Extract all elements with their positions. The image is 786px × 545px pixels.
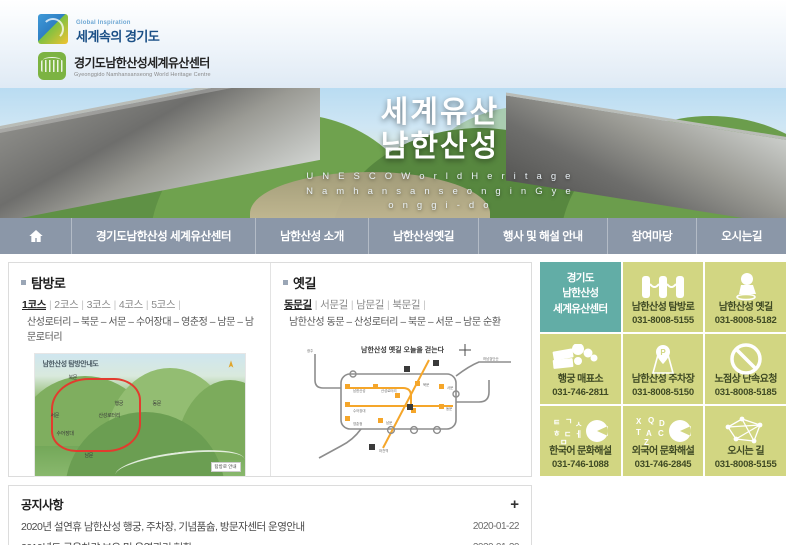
oldroad-tab-dongmun[interactable]: 동문길 <box>284 299 312 311</box>
svg-text:ㄱ: ㄱ <box>565 417 572 426</box>
notice-item-1-text: 2020년 설연휴 남한산성 행궁, 주차장, 기념품슙, 방문자센터 운영안내 <box>21 519 305 534</box>
gyeonggi-logo[interactable]: Global Inspiration 세계속의 경기도 <box>38 12 786 46</box>
schematic-caption: 남한산성 옛길 오늘을 걷는다 <box>361 345 445 354</box>
center-logo[interactable]: 경기도남한산성세계유산센터 Gyeonggido Namhansanseong … <box>38 52 786 80</box>
oldroad-schematic-map[interactable]: 남한산성산성로터리 북문서문 수어장대영춘정 남문동문 마천역하남검단산 광주 … <box>283 336 519 476</box>
quick-link-parking-phone: 031-8008-5150 <box>632 387 694 398</box>
map-label-haenggung: 행궁 <box>115 400 124 407</box>
oldroad-tab-seomun[interactable]: 서문길 <box>320 299 348 311</box>
page-root: Global Inspiration 세계속의 경기도 경기도남한산성세계유산센… <box>0 0 786 545</box>
svg-text:ㅎ: ㅎ <box>553 429 560 438</box>
oldroad-panel-title: 옛길 <box>293 273 316 292</box>
svg-text:수어장대: 수어장대 <box>353 408 365 413</box>
hero-title: 세계유산 남한산성 <box>300 96 580 164</box>
svg-text:Q: Q <box>648 416 654 425</box>
svg-text:ㅅ: ㅅ <box>575 420 582 429</box>
trail-tab-3[interactable]: 3코스 <box>87 299 111 311</box>
notice-item-2-text: 2019년도 공용차량 보유 및 운영관리 현황 <box>21 540 192 545</box>
hero-text-block: 세계유산 남한산성 U N E S C O W o r l d H e r i … <box>300 96 580 213</box>
parking-pin-icon: P <box>623 342 704 376</box>
notice-board: 공지사항 + 2020년 설연휴 남한산성 행궁, 주차장, 기념품슙, 방문자… <box>8 485 532 545</box>
map-label-seomun: 서문 <box>51 412 60 419</box>
trail-panel-title: 탐방로 <box>31 273 65 292</box>
nav-item-events[interactable]: 행사 및 해설 안내 <box>479 218 608 254</box>
quick-link-korean-guide[interactable]: ㅌㄱㅅ ㅎㄷㅔ ㅁ 한국어 문화해설 031-746-1088 <box>540 406 621 476</box>
foreign-speech-icon: XQD TAC Z <box>623 414 704 448</box>
trail-course-tabs: 1코스|2코스|3코스|4코스|5코스| <box>22 297 258 312</box>
svg-text:서문: 서문 <box>447 385 453 390</box>
gyeonggi-logo-sup: Global Inspiration <box>76 20 131 26</box>
quick-link-foreign-guide[interactable]: XQD TAC Z 외국어 문화해설 031-746-2845 <box>623 406 704 476</box>
fortress-wall-icon <box>623 270 704 304</box>
svg-text:T: T <box>636 428 641 437</box>
nav-item-oldroad[interactable]: 남한산성옛길 <box>369 218 479 254</box>
compass-icon <box>227 360 235 372</box>
notice-item-1-date: 2020-01-22 <box>473 521 519 532</box>
svg-text:마천역: 마천역 <box>379 448 388 453</box>
svg-text:산성로터리: 산성로터리 <box>381 388 397 393</box>
svg-text:남문: 남문 <box>386 420 392 425</box>
map-label-nammun: 남문 <box>85 452 94 459</box>
map-label-bukmun: 북문 <box>69 374 78 381</box>
notice-title: 공지사항 <box>21 496 63 513</box>
oldroad-tab-bukmun[interactable]: 북문길 <box>392 299 420 311</box>
left-column: 탐방로 1코스|2코스|3코스|4코스|5코스| 산성로터리 – 북문 – 서문… <box>8 262 532 539</box>
quick-link-vendor-report[interactable]: 노점상 단속요청 031-8008-5185 <box>705 334 786 404</box>
korean-speech-icon: ㅌㄱㅅ ㅎㄷㅔ ㅁ <box>540 414 621 448</box>
svg-text:광주: 광주 <box>307 348 313 353</box>
map-label-sueojangdae: 수어장대 <box>57 430 74 437</box>
trail-tab-2[interactable]: 2코스 <box>54 299 78 311</box>
map-label-sanseong-rotary: 산성로터리 <box>99 412 121 419</box>
no-entry-icon <box>705 342 786 376</box>
hero-subtitle: U N E S C O W o r l d H e r i t a g e N … <box>300 170 580 213</box>
quick-link-ticket[interactable]: 행궁 매표소 031-746-2811 <box>540 334 621 404</box>
site-header: Global Inspiration 세계속의 경기도 경기도남한산성세계유산센… <box>0 0 786 88</box>
quick-link-korean-guide-phone: 031-746-1088 <box>552 459 609 470</box>
bullet-square-icon <box>21 280 26 285</box>
trail-route-description: 산성로터리 – 북문 – 서문 – 수어장대 – 영춘정 – 남문 – 남문로터… <box>27 315 258 345</box>
quick-link-directions-phone: 031-8008-5155 <box>715 459 777 470</box>
svg-text:하남검단산: 하남검단산 <box>483 356 499 361</box>
center-logo-sub: Gyeonggido Namhansanseong World Heritage… <box>74 72 211 78</box>
trail-tab-5[interactable]: 5코스 <box>151 299 175 311</box>
trail-map-caption: 남한산성 탐방안내도 <box>43 359 99 369</box>
quick-link-ticket-phone: 031-746-2811 <box>552 387 608 398</box>
svg-text:C: C <box>658 429 664 438</box>
bullet-square-icon <box>283 280 288 285</box>
quick-link-vendor-report-phone: 031-8008-5185 <box>715 387 777 398</box>
content-area: 탐방로 1코스|2코스|3코스|4코스|5코스| 산성로터리 – 북문 – 서문… <box>0 254 786 539</box>
quick-link-parking[interactable]: P 남한산성 주차장 031-8008-5150 <box>623 334 704 404</box>
sidebar-brand-cell: 경기도 남한산성 세계유산센터 <box>540 262 621 332</box>
notice-item-2[interactable]: 2019년도 공용차량 보유 및 운영관리 현황 2020-01-20 <box>21 540 519 545</box>
feature-panels: 탐방로 1코스|2코스|3코스|4코스|5코스| 산성로터리 – 북문 – 서문… <box>8 262 532 477</box>
svg-text:ㅔ: ㅔ <box>575 429 582 439</box>
map-label-dongmun: 동문 <box>153 400 162 407</box>
svg-text:X: X <box>636 417 642 426</box>
svg-text:ㅌ: ㅌ <box>553 418 560 427</box>
sidebar-brand-label: 경기도 남한산성 세계유산센터 <box>553 271 607 317</box>
gyeonggi-logo-main: 세계속의 경기도 <box>76 29 159 44</box>
nav-item-center[interactable]: 경기도남한산성 세계유산센터 <box>72 218 256 254</box>
trail-map-legend: 탐방로 안내 <box>211 462 241 472</box>
schematic-svg: 남한산성산성로터리 북문서문 수어장대영춘정 남문동문 마천역하남검단산 광주 … <box>283 336 533 476</box>
nav-item-directions[interactable]: 오시는길 <box>697 218 786 254</box>
oldroad-tabs: 동문길|서문길|남문길|북문길| <box>284 297 519 312</box>
nav-item-community[interactable]: 참여마당 <box>608 218 698 254</box>
nav-item-intro[interactable]: 남한산성 소개 <box>256 218 369 254</box>
nav-home-button[interactable] <box>0 218 72 254</box>
svg-text:A: A <box>646 429 652 438</box>
notice-item-1[interactable]: 2020년 설연휴 남한산성 행궁, 주차장, 기념품슙, 방문자센터 운영안내… <box>21 519 519 534</box>
quick-link-directions[interactable]: 오시는 길 031-8008-5155 <box>705 406 786 476</box>
ticket-money-icon <box>540 342 621 376</box>
footprint-stamp-icon <box>705 270 786 304</box>
svg-text:Z: Z <box>644 438 649 446</box>
quick-link-oldroad-phone: 031-8008-5182 <box>715 315 777 326</box>
trail-pictorial-map[interactable]: 남한산성 탐방안내도 북문 서문 남문 동문 수어장대 산성로터리 행궁 탐방로… <box>34 353 246 477</box>
namhansanseong-emblem-icon <box>38 52 66 80</box>
trail-panel: 탐방로 1코스|2코스|3코스|4코스|5코스| 산성로터리 – 북문 – 서문… <box>9 263 270 476</box>
hero-banner: 세계유산 남한산성 U N E S C O W o r l d H e r i … <box>0 88 786 218</box>
trail-tab-1[interactable]: 1코스 <box>22 299 46 311</box>
quick-link-trail-phone: 031-8008-5155 <box>632 315 694 326</box>
route-network-icon <box>705 414 786 448</box>
svg-text:남한산성: 남한산성 <box>353 388 365 393</box>
svg-text:북문: 북문 <box>423 382 429 387</box>
quick-link-oldroad[interactable]: 남한산성 옛길 031-8008-5182 <box>705 262 786 332</box>
quick-link-foreign-guide-phone: 031-746-2845 <box>635 459 692 470</box>
svg-text:동문: 동문 <box>446 407 452 411</box>
oldroad-panel: 옛길 동문길|서문길|남문길|북문길| 남한산성 동문 – 산성로터리 – 북문… <box>270 263 531 476</box>
home-icon <box>28 228 44 244</box>
oldroad-tab-nammun[interactable]: 남문길 <box>356 299 384 311</box>
quick-link-trail[interactable]: 남한산성 탐방로 031-8008-5155 <box>623 262 704 332</box>
center-logo-main: 경기도남한산성세계유산센터 <box>74 54 211 71</box>
main-navigation: 경기도남한산성 세계유산센터 남한산성 소개 남한산성옛길 행사 및 해설 안내… <box>0 218 786 254</box>
svg-text:D: D <box>659 419 665 428</box>
svg-text:영춘정: 영춘정 <box>353 421 362 426</box>
oldroad-route-description: 남한산성 동문 – 산성로터리 – 북문 – 서문 – 남문 순환 <box>289 315 519 330</box>
notice-more-button[interactable]: + <box>510 497 519 512</box>
trail-tab-4[interactable]: 4코스 <box>119 299 143 311</box>
svg-text:ㅁ: ㅁ <box>560 438 567 446</box>
svg-text:P: P <box>660 348 666 357</box>
gyeonggi-emblem-icon <box>38 14 68 44</box>
quick-contact-grid: 경기도 남한산성 세계유산센터 남한산성 탐방로 031-8008-5155 남… <box>540 262 786 539</box>
trail-route-outline <box>51 378 141 452</box>
